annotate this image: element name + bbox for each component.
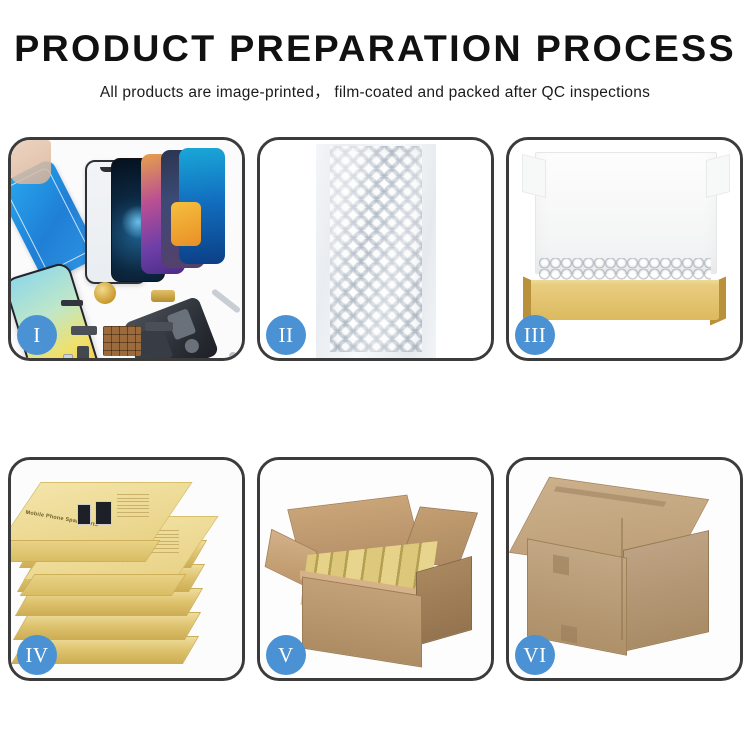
retail-box-spec-lines-upper xyxy=(117,494,149,519)
step-panel-6: VI xyxy=(506,457,743,681)
step-badge-1: I xyxy=(17,315,57,355)
step-badge-2: II xyxy=(266,315,306,355)
retail-box-screen-thumb-b xyxy=(95,501,112,525)
sealed-carton-corner-edge xyxy=(621,518,623,640)
bubble-wrap-column xyxy=(330,146,422,352)
part-small-1 xyxy=(77,346,89,358)
retail-box-front-face xyxy=(11,540,160,562)
hand-image xyxy=(11,140,51,184)
retail-box-screen-thumb-a xyxy=(77,504,91,525)
sealed-carton-tab-lower xyxy=(561,624,577,643)
part-logic-board xyxy=(103,326,141,356)
phone-display-orange xyxy=(171,202,201,246)
carton-side-face xyxy=(416,556,472,646)
header: PRODUCT PREPARATION PROCESS All products… xyxy=(0,0,750,102)
sealed-carton-side-face xyxy=(623,530,709,652)
box-front-kraft xyxy=(531,286,719,320)
product-preparation-infographic: PRODUCT PREPARATION PROCESS All products… xyxy=(0,0,750,750)
part-gold-contact xyxy=(151,290,175,302)
part-connector-bar xyxy=(61,300,83,306)
step-badge-4: IV xyxy=(17,635,57,675)
part-flex-cable-1 xyxy=(71,326,97,335)
step-panel-1: I xyxy=(8,137,245,361)
steps-grid: I II III xyxy=(8,137,742,742)
page-title: PRODUCT PREPARATION PROCESS xyxy=(0,30,750,69)
part-vibration-motor xyxy=(94,282,116,304)
step-badge-5: V xyxy=(266,635,306,675)
step-badge-3: III xyxy=(515,315,555,355)
sealed-carton-tab-upper xyxy=(553,554,569,575)
box-lid-white xyxy=(535,152,717,274)
step-badge-6: VI xyxy=(515,635,555,675)
step-panel-2: II xyxy=(257,137,494,361)
part-sim-tray xyxy=(63,354,73,358)
tweezers-tool-icon xyxy=(211,288,241,314)
speaker-icon xyxy=(183,337,201,355)
step-panel-5: V xyxy=(257,457,494,681)
step-panel-4: Mobile Phone Spare Parts Mobile Phone Sp… xyxy=(8,457,245,681)
part-screw-1 xyxy=(229,352,237,358)
part-small-4 xyxy=(135,356,147,358)
retail-box-front-face xyxy=(20,574,187,596)
page-subtitle: All products are image-printed， film-coa… xyxy=(0,80,750,102)
part-flex-cable-2 xyxy=(145,322,173,331)
step-panel-3: III xyxy=(506,137,743,361)
